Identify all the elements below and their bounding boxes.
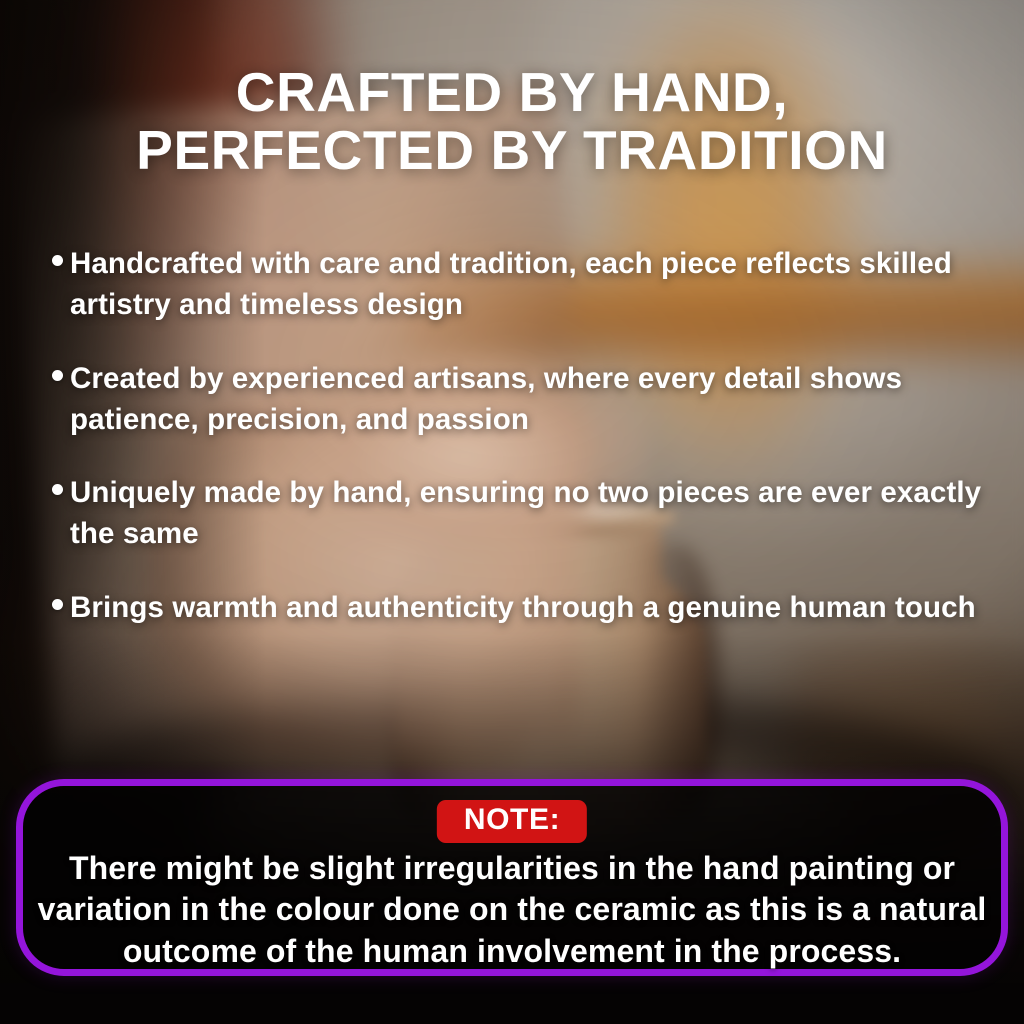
feature-bullet-list: Handcrafted with care and tradition, eac… [52, 243, 994, 628]
headline-line-2: PERFECTED BY TRADITION [40, 121, 984, 179]
bullet-dot-icon [52, 370, 63, 381]
page-title: CRAFTED BY HAND, PERFECTED BY TRADITION [0, 63, 1024, 180]
bullet-text: Created by experienced artisans, where e… [70, 358, 990, 441]
list-item: Brings warmth and authenticity through a… [52, 587, 994, 628]
bullet-dot-icon [52, 599, 63, 610]
note-body-text: There might be slight irregularities in … [37, 848, 987, 972]
bullet-dot-icon [52, 255, 63, 266]
bullet-text: Brings warmth and authenticity through a… [70, 587, 976, 628]
promo-poster: CRAFTED BY HAND, PERFECTED BY TRADITION … [0, 0, 1024, 1024]
status-badge: NOTE: [437, 800, 587, 843]
poster-content: CRAFTED BY HAND, PERFECTED BY TRADITION … [0, 0, 1024, 1024]
list-item: Handcrafted with care and tradition, eac… [52, 243, 994, 326]
note-callout-box: NOTE: There might be slight irregulariti… [16, 779, 1008, 976]
bullet-dot-icon [52, 484, 63, 495]
bullet-text: Handcrafted with care and tradition, eac… [70, 243, 990, 326]
headline-line-1: CRAFTED BY HAND, [40, 63, 984, 121]
list-item: Uniquely made by hand, ensuring no two p… [52, 472, 994, 555]
bullet-text: Uniquely made by hand, ensuring no two p… [70, 472, 990, 555]
list-item: Created by experienced artisans, where e… [52, 358, 994, 441]
